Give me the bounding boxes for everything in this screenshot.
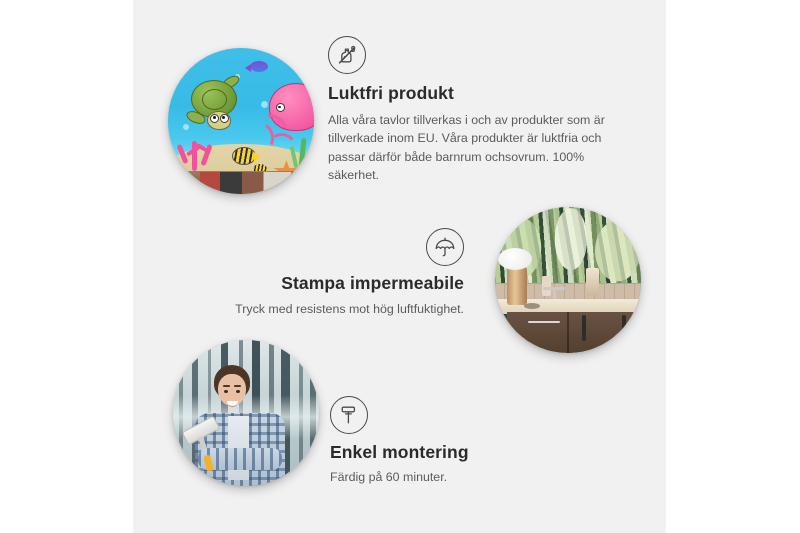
feature-block-luktfri-produkt: Luktfri produkt Alla våra tavlor tillver… <box>328 36 628 184</box>
drawer-handle <box>528 321 560 323</box>
feature-title: Stampa impermeabile <box>212 273 464 294</box>
soap-bottle <box>586 268 599 296</box>
eye <box>236 390 240 393</box>
feature-icon-wrap <box>212 228 464 266</box>
white-flowers <box>498 248 532 270</box>
forest-mural-scene <box>173 340 319 486</box>
coral-icon <box>178 137 218 171</box>
feature-icon-wrap <box>328 36 628 74</box>
feature-description: Alla våra tavlor tillverkas i och av pro… <box>328 111 618 184</box>
paint-roller-icon <box>330 396 368 434</box>
bubble-icon <box>183 124 189 130</box>
umbrella-icon <box>426 228 464 266</box>
bathroom-scene <box>495 207 641 353</box>
product-feature-infographic: Luktfri produkt Alla våra tavlor tillver… <box>0 0 800 533</box>
room-foreground-strip <box>200 172 291 194</box>
bubble-icon <box>261 101 268 108</box>
soap-bottle <box>542 276 551 296</box>
feature-image-underwater-cartoon-mural <box>168 48 314 194</box>
feature-block-enkel-montering: Enkel montering Färdig på 60 minuter. <box>330 396 590 486</box>
feature-block-stampa-impermeabile: Stampa impermeabile Tryck med resistens … <box>212 228 464 318</box>
cabinet-handle <box>582 315 586 340</box>
feature-icon-wrap <box>330 396 590 434</box>
cabinet-handle <box>622 315 626 340</box>
purple-fish-icon <box>250 61 268 72</box>
eyebrow <box>223 385 230 387</box>
feature-description: Tryck med resistens mot hög luftfuktighe… <box>212 300 464 318</box>
vase <box>507 265 527 305</box>
turtle-eye <box>220 114 229 123</box>
no-fragrance-bottle-icon <box>328 36 366 74</box>
feature-title: Enkel montering <box>330 442 590 463</box>
eye <box>224 390 228 393</box>
feature-image-bathroom-botanical-wallpaper <box>495 207 641 353</box>
feature-image-woman-with-paint-roller-forest-mural <box>173 340 319 486</box>
butterflyfish-icon <box>232 147 256 165</box>
wooden-vanity-cabinet <box>507 312 641 353</box>
feature-title: Luktfri produkt <box>328 83 628 104</box>
turtle-eye <box>210 114 219 123</box>
underwater-scene <box>168 48 314 194</box>
feature-description: Färdig på 60 minuter. <box>330 468 590 486</box>
eyebrow <box>234 385 241 387</box>
